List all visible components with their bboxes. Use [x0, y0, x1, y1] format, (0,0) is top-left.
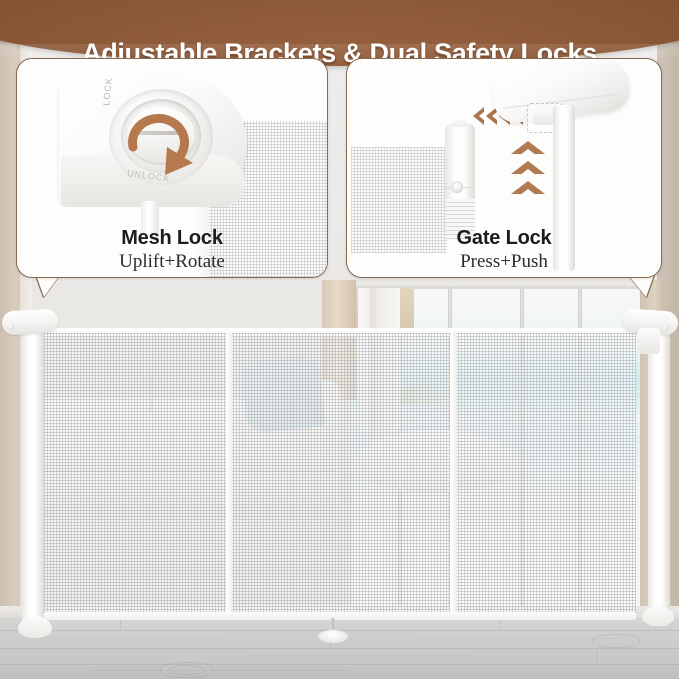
wall-bracket-left: [1, 309, 58, 336]
plank-joint: [596, 648, 597, 664]
callout-panel-gate-lock: Gate Lock Press+Push: [346, 58, 662, 278]
plank-seam: [0, 648, 679, 649]
plank-seam: [0, 664, 679, 665]
wood-knot: [170, 665, 204, 675]
wood-grain: [420, 638, 620, 639]
post-foot-right: [642, 606, 674, 626]
gate-post-left: [22, 332, 44, 634]
gate-lock-pole: [553, 105, 575, 271]
gate-bottom-rail: [44, 612, 636, 620]
wood-floor: [0, 618, 679, 679]
callout-tail-right: [628, 275, 654, 297]
bracket-screw: [8, 324, 14, 330]
wood-knot: [592, 634, 640, 648]
push-chevron-notch: [511, 189, 545, 202]
floor-anchor-base: [318, 630, 348, 643]
gate-latch-grip: [445, 199, 475, 239]
mesh-lock-stem: [141, 201, 159, 241]
wood-grain: [90, 670, 350, 671]
gate-latch-block: [638, 328, 660, 354]
gate-mesh-panel: [44, 333, 636, 619]
bracket-screw: [663, 324, 669, 330]
gate-latch-button[interactable]: [451, 181, 463, 193]
wood-grain: [250, 655, 470, 656]
gate-post-right: [648, 330, 670, 626]
callout-panel-mesh-lock: LOCK UNLOCK Mesh Lock Uplift+Rotate: [16, 58, 328, 278]
wood-grain: [40, 638, 220, 639]
gate-lock-clip: [533, 109, 553, 125]
gate-latch-cap: [452, 117, 467, 127]
callout-tail-left: [36, 275, 60, 297]
gate-mesh-rib: [450, 333, 457, 619]
gate-mesh-fabric: [351, 147, 447, 253]
rotate-arrow-icon: [109, 89, 213, 185]
product-infographic: Adjustable Brackets & Dual Safety Locks …: [0, 0, 679, 679]
gate-lock-subtitle: Press+Push: [347, 251, 661, 273]
gate-mesh-rib: [226, 333, 233, 619]
post-foot-left: [18, 616, 52, 638]
